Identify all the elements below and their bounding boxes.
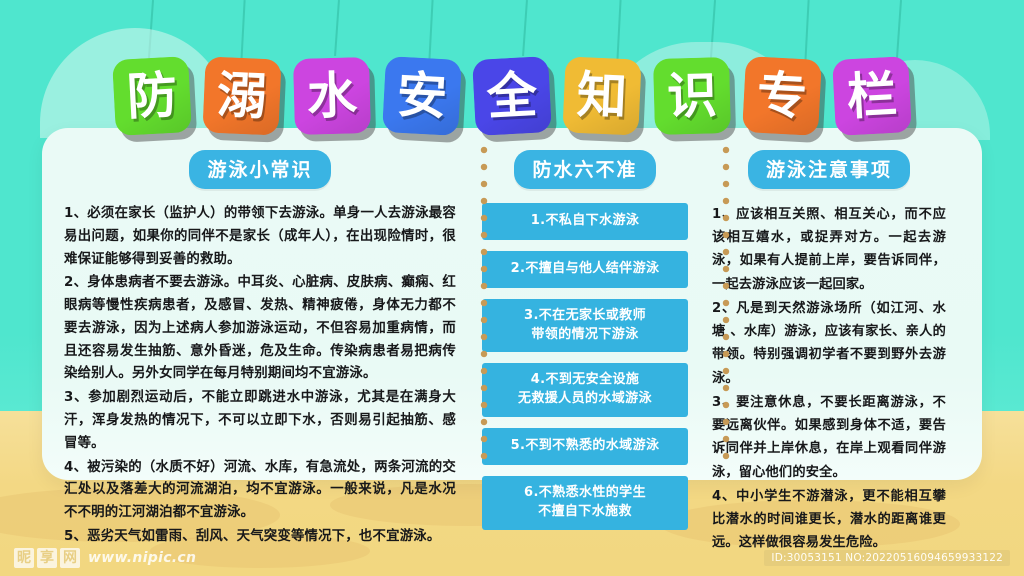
title-tile-char: 知 [576, 70, 628, 122]
title-tile-char: 安 [396, 70, 449, 123]
title-tile-6: 识 [653, 57, 731, 135]
section-heading-middle: 防水六不准 [514, 150, 655, 189]
title-tile-char: 防 [126, 70, 179, 123]
column-swimming-cautions: 游泳注意事项 1、应该相互关照、相互关心，而不应该相互嬉水，或捉弄对方。一起去游… [698, 128, 962, 480]
right-column-body: 1、应该相互关照、相互关心，而不应该相互嬉水，或捉弄对方。一起去游泳，如果有人提… [712, 203, 946, 555]
logo-char-1: 享 [37, 548, 57, 568]
paragraph: 4、被污染的（水质不好）河流、水库，有急流处，两条河流的交汇处以及落差大的河流湖… [64, 457, 456, 525]
title-tile-0: 防 [112, 56, 192, 136]
rule-item-1: 1.不私自下水游泳 [482, 203, 688, 240]
watermark-id: ID:30053151 NO:20220516094659933122 [764, 550, 1010, 566]
rule-item-4: 4.不到无安全设施无救援人员的水域游泳 [482, 363, 688, 417]
column-six-prohibitions: 防水六不准 1.不私自下水游泳 2.不擅自与他人结伴游泳 3.不在无家长或教师带… [472, 128, 698, 480]
title-tile-char: 专 [756, 70, 809, 123]
footer-watermark: 昵 享 网 www.nipic.cn ID:30053151 NO:202205… [0, 540, 1024, 576]
title-tile-char: 栏 [846, 70, 899, 123]
title-tile-2: 水 [293, 57, 371, 135]
dotted-divider-left [480, 146, 488, 462]
rule-item-5: 5.不到不熟悉的水域游泳 [482, 428, 688, 465]
section-heading-right: 游泳注意事项 [748, 150, 910, 189]
rule-item-2: 2.不擅自与他人结伴游泳 [482, 251, 688, 288]
logo-char-0: 昵 [14, 548, 34, 568]
section-heading-left: 游泳小常识 [189, 150, 330, 189]
title-tile-5: 知 [562, 56, 641, 135]
rule-item-6: 6.不熟悉水性的学生不擅自下水施救 [482, 476, 688, 530]
paragraph: 1、应该相互关照、相互关心，而不应该相互嬉水，或捉弄对方。一起去游泳，如果有人提… [712, 203, 946, 296]
poster-title: 防 溺 水 安 全 知 识 专 栏 [0, 40, 1024, 152]
paragraph: 2、凡是到天然游泳场所（如江河、水塘 、水库）游泳，应该有家长、亲人的带领。特别… [712, 297, 946, 390]
column-swimming-basics: 游泳小常识 1、必须在家长（监护人）的带领下去游泳。单身一人去游泳最容易出问题，… [42, 128, 472, 480]
title-tile-char: 溺 [216, 70, 268, 122]
title-tile-char: 全 [486, 70, 539, 123]
title-tile-3: 安 [382, 56, 462, 136]
dotted-divider-right [722, 146, 730, 462]
paragraph: 2、身体患病者不要去游泳。中耳炎、心脏病、皮肤病、癫痫、红眼病等慢性疾病患者，及… [64, 272, 456, 386]
rule-item-3: 3.不在无家长或教师带领的情况下游泳 [482, 299, 688, 353]
logo-char-2: 网 [60, 548, 80, 568]
nipic-logo-icon: 昵 享 网 [14, 548, 80, 568]
poster-canvas: 防 溺 水 安 全 知 识 专 栏 游泳小常识 1、必须在家长（监护人）的带领下… [0, 0, 1024, 576]
paragraph: 1、必须在家长（监护人）的带领下去游泳。单身一人去游泳最容易出问题，如果你的同伴… [64, 203, 456, 271]
watermark-brand: 昵 享 网 www.nipic.cn [14, 548, 196, 568]
title-tile-1: 溺 [202, 56, 281, 135]
paragraph: 3、参加剧烈运动后，不能立即跳进水中游泳，尤其是在满身大汗，浑身发热的情况下，不… [64, 387, 456, 455]
rule-list: 1.不私自下水游泳 2.不擅自与他人结伴游泳 3.不在无家长或教师带领的情况下游… [482, 203, 688, 530]
title-tile-char: 水 [306, 70, 357, 121]
watermark-url: www.nipic.cn [88, 550, 196, 566]
paragraph: 3、要注意休息，不要长距离游泳，不要远离伙伴。如果感到身体不适，要告诉同伴并上岸… [712, 391, 946, 484]
title-tile-8: 栏 [832, 56, 912, 136]
title-tile-4: 全 [472, 56, 552, 136]
left-column-body: 1、必须在家长（监护人）的带领下去游泳。单身一人去游泳最容易出问题，如果你的同伴… [64, 203, 456, 549]
content-card: 游泳小常识 1、必须在家长（监护人）的带领下去游泳。单身一人去游泳最容易出问题，… [42, 128, 982, 480]
title-tile-7: 专 [742, 56, 822, 136]
title-tile-char: 识 [666, 70, 717, 121]
